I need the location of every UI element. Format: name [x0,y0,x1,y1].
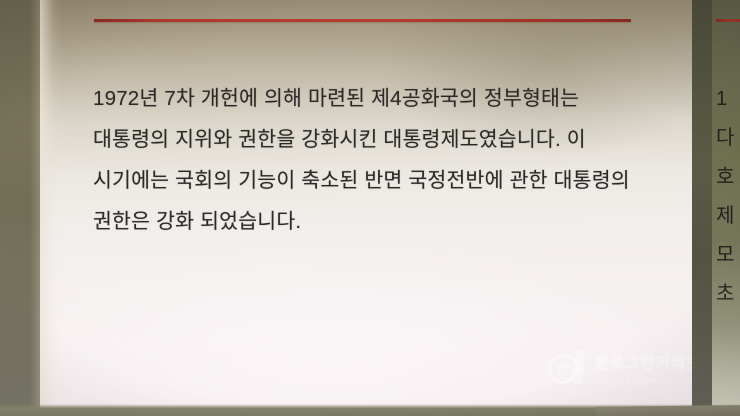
next-panel-line-5: 모 [716,236,740,275]
next-panel-line-6: 초 [716,275,740,314]
body-line-3: 시기에는 국회의 기능이 축소된 반면 국정전반에 관한 대통령의 [93,160,653,201]
next-panel-line-4: 제 [716,197,740,236]
panel-left-edge-lip [40,0,62,416]
red-divider-rule [94,19,631,22]
body-line-1: 1972년 7차 개헌에 의해 마련된 제4공화국의 정부형태는 [93,78,653,119]
body-line-2: 대통령의 지위와 권한을 강화시킨 대통령제도였습니다. 이 [93,119,653,160]
next-panel-line-1: 1 [716,80,740,119]
circular-seal-logo-icon [546,348,588,390]
next-panel-line-2: 다 [716,119,740,158]
exhibit-body-copy: 1972년 7차 개헌에 의해 마련된 제4공화국의 정부형태는 대통령의 지위… [93,78,653,242]
next-panel-red-rule [716,19,740,22]
panel-separator-gap [692,0,712,416]
body-line-4: 권한은 강화 되었습니다. [93,201,653,242]
watermark: 블로그한겨레닷컴 blog.hangyeore.com [546,345,714,393]
next-panel-line-3: 호 [716,158,740,197]
next-panel-body-copy: 1 다 호 제 모 초 [716,80,740,314]
floor-strip-right [596,405,740,416]
exhibit-photo-scene: 1972년 7차 개헌에 의해 마련된 제4공화국의 정부형태는 대통령의 지위… [0,0,740,416]
